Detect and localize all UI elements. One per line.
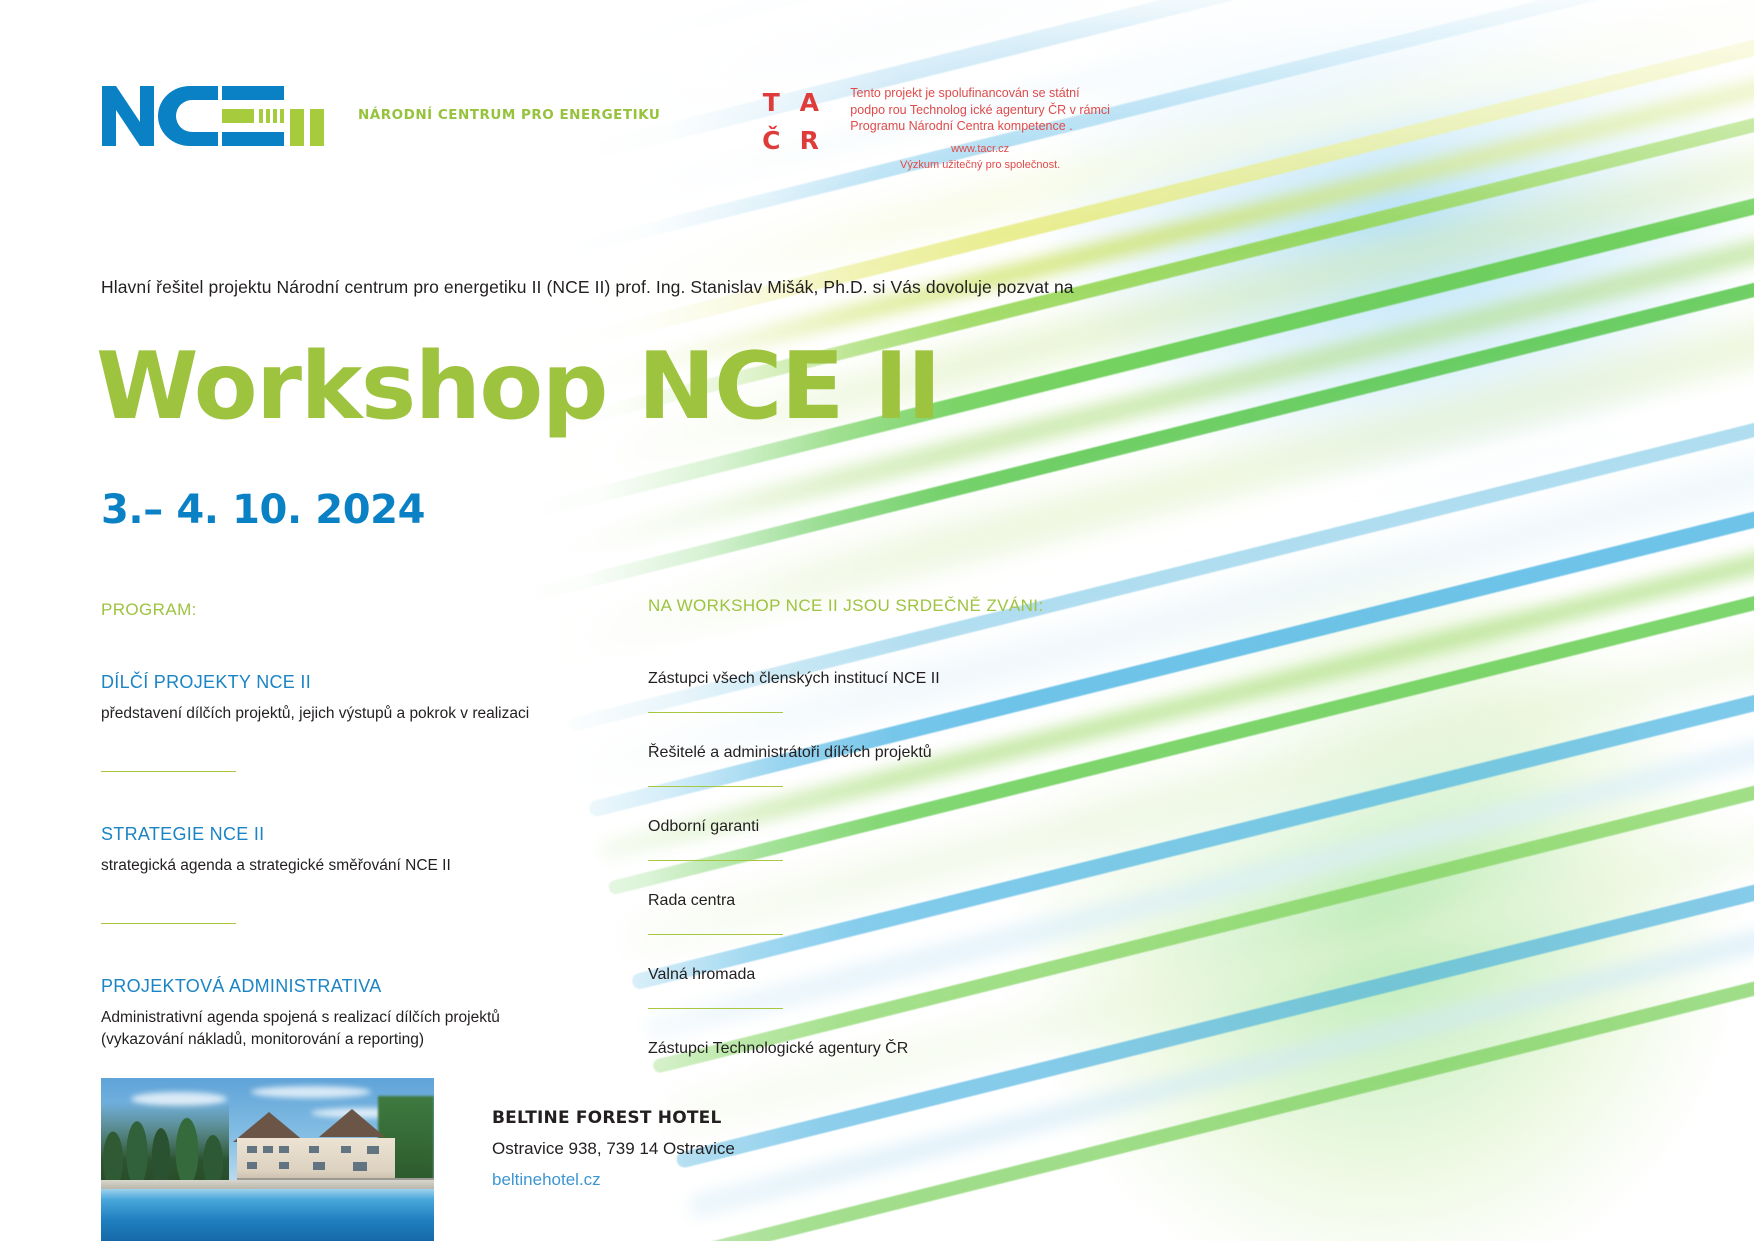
photo-window <box>279 1162 289 1169</box>
photo-window <box>263 1146 273 1153</box>
photo-window <box>367 1146 379 1154</box>
list-item: Rada centra <box>648 892 1078 910</box>
photo-window <box>279 1146 289 1153</box>
invitees-column: NA WORKSHOP NCE II JSOU SRDEČNĚ ZVÁNI: Z… <box>648 596 1078 1058</box>
photo-window <box>341 1146 351 1153</box>
program-item: PROJEKTOVÁ ADMINISTRATIVA Administrativn… <box>101 976 571 1051</box>
nce-logo-wordmark: NÁRODNÍ CENTRUM PRO ENERGETIKU <box>358 107 660 125</box>
list-item: Odborní garanti <box>648 818 1078 836</box>
nce-logomark-icon <box>100 80 340 152</box>
invitees-divider <box>648 786 783 787</box>
tacr-letter-c: Č <box>762 126 780 155</box>
program-divider <box>101 923 236 924</box>
list-item: Zástupci všech členských institucí NCE I… <box>648 670 1078 688</box>
invitees-heading: NA WORKSHOP NCE II JSOU SRDEČNĚ ZVÁNI: <box>648 596 1078 616</box>
invitation-intro-text: Hlavní řešitel projektu Národní centrum … <box>101 277 1074 298</box>
tacr-letter-r: R <box>800 126 819 155</box>
photo-window <box>309 1146 319 1153</box>
photo-window <box>353 1162 367 1171</box>
program-item-desc: představení dílčích projektů, jejich výs… <box>101 703 571 725</box>
photo-pool-edge <box>101 1180 434 1189</box>
tacr-funding-statement: Tento projekt je spolufinancován se stát… <box>850 83 1110 135</box>
list-item: Řešitelé a administrátoři dílčích projek… <box>648 744 1078 762</box>
invitees-divider <box>648 860 783 861</box>
photo-window <box>313 1162 325 1170</box>
invitees-divider <box>648 1008 783 1009</box>
venue-name: BELTINE FOREST HOTEL <box>492 1108 735 1128</box>
tacr-letter-t: T <box>763 88 780 117</box>
nce-logo: NÁRODNÍ CENTRUM PRO ENERGETIKU <box>100 80 660 152</box>
venue-website-link[interactable]: beltinehotel.cz <box>492 1170 601 1189</box>
photo-hotel-roof <box>319 1109 385 1137</box>
tacr-letters: T A Č R <box>752 83 828 159</box>
list-item: Valná hromada <box>648 966 1078 984</box>
program-item: STRATEGIE NCE II strategická agenda a st… <box>101 824 571 877</box>
list-item: Zástupci Technologické agentury ČR <box>648 1040 1078 1058</box>
program-column: PROGRAM: DÍLČÍ PROJEKTY NCE II představe… <box>101 600 571 1051</box>
photo-pool <box>101 1189 434 1241</box>
event-date: 3.– 4. 10. 2024 <box>101 487 425 533</box>
photo-window <box>247 1146 257 1153</box>
tacr-logo: T A Č R Tento projekt je spolufinancován… <box>752 83 1110 172</box>
program-item-title: PROJEKTOVÁ ADMINISTRATIVA <box>101 976 571 997</box>
invitation-poster: NÁRODNÍ CENTRUM PRO ENERGETIKU T A Č R T… <box>0 0 1754 1241</box>
venue-info: BELTINE FOREST HOTEL Ostravice 938, 739 … <box>492 1108 735 1190</box>
tacr-tagline: Výzkum užitečný pro společnost. <box>850 158 1110 172</box>
tacr-letter-a: A <box>800 88 819 117</box>
invitees-divider <box>648 934 783 935</box>
program-item-title: DÍLČÍ PROJEKTY NCE II <box>101 672 571 693</box>
photo-cloud <box>251 1086 371 1098</box>
venue-photo <box>101 1078 434 1241</box>
venue-address: Ostravice 938, 739 14 Ostravice <box>492 1139 735 1159</box>
invitees-list: Zástupci všech členských institucí NCE I… <box>648 670 1078 1058</box>
program-item-desc: Administrativní agenda spojená s realiza… <box>101 1007 571 1051</box>
program-item-desc: strategická agenda a strategické směřová… <box>101 855 571 877</box>
program-heading: PROGRAM: <box>101 600 571 620</box>
header-logos: NÁRODNÍ CENTRUM PRO ENERGETIKU T A Č R T… <box>100 80 1110 172</box>
page-title: Workshop NCE II <box>96 340 940 433</box>
program-item-title: STRATEGIE NCE II <box>101 824 571 845</box>
program-divider <box>101 771 236 772</box>
tacr-website: www.tacr.cz <box>850 142 1110 156</box>
program-item: DÍLČÍ PROJEKTY NCE II představení dílčíc… <box>101 672 571 725</box>
invitees-divider <box>648 712 783 713</box>
photo-window <box>247 1162 257 1169</box>
